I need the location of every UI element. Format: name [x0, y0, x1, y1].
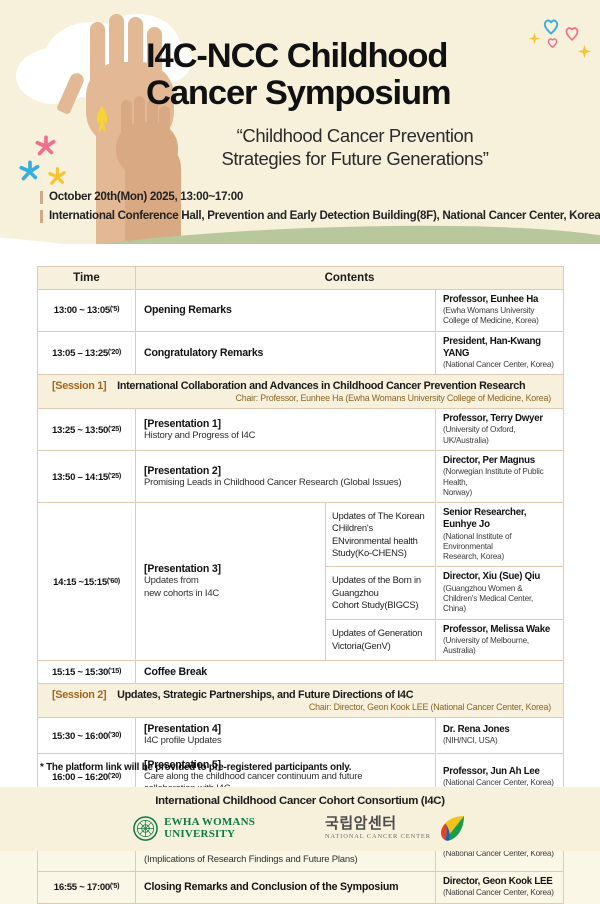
ewha-line-2: UNIVERSITY — [164, 828, 255, 840]
speaker-name: Professor, Eunhee Ha — [443, 294, 556, 306]
row-speaker: Director, Geon Kook LEE (National Cancer… — [436, 872, 564, 903]
session-title-line: [Session 2] Updates, Strategic Partnersh… — [52, 689, 553, 701]
time-duration: ('15) — [108, 666, 121, 675]
title-line-2: Cancer Symposium — [146, 75, 586, 112]
event-date-text: October 20th(Mon) 2025, 13:00~17:00 — [49, 190, 243, 203]
subtitle-line-1: “Childhood Cancer Prevention — [146, 124, 564, 148]
speaker-affiliation: (National Cancer Center, Korea) — [443, 888, 556, 898]
table-header-row: Time Contents — [38, 267, 564, 290]
row-title: Coffee Break — [144, 666, 555, 678]
title-block: I4C-NCC Childhood Cancer Symposium “Chil… — [146, 38, 586, 171]
time-text: 16:55 ~ 17:00 — [54, 882, 110, 893]
row-contents: [Presentation 2] Promising Leads in Chil… — [136, 451, 436, 503]
speaker-affiliation: (National Cancer Center, Korea) — [443, 360, 556, 370]
time-text: 13:05 – 13:25 — [52, 348, 108, 359]
row-description: I4C profile Updates — [144, 735, 427, 747]
footnote: * The platform link will be provided to … — [40, 762, 351, 773]
subtopic-text: Cohort Study(BIGCS) — [332, 599, 429, 612]
session-chair: Chair: Director, Geon Kook LEE (National… — [52, 702, 553, 712]
time-text: 13:00 ~ 13:05 — [54, 305, 110, 316]
hero-banner: I4C-NCC Childhood Cancer Symposium “Chil… — [0, 0, 600, 262]
speaker-affiliation: Children's Medical Center, China) — [443, 594, 556, 615]
row-speaker: Director, Per Magnus (Norwegian Institut… — [436, 451, 564, 503]
session-title: International Collaboration and Advances… — [117, 380, 525, 392]
ncc-english-text: NATIONAL CANCER CENTER — [325, 833, 431, 840]
flower-decoration — [33, 133, 59, 159]
row-title: Opening Remarks — [144, 304, 427, 316]
row-speaker: Dr. Rena Jones (NIH/NCI, USA) — [436, 718, 564, 753]
row-title: [Presentation 2] — [144, 465, 427, 477]
title-line-1: I4C-NCC Childhood — [146, 38, 586, 75]
row-description: (Implications of Research Findings and F… — [144, 854, 427, 866]
table-row: 13:00 ~ 13:05('5) Opening Remarks Profes… — [38, 290, 564, 332]
table-row: 13:05 – 13:25('20) Congratulatory Remark… — [38, 331, 564, 375]
footer-band: International Childhood Cancer Cohort Co… — [0, 787, 600, 851]
yellow-ribbon-icon — [93, 103, 111, 135]
speaker-affiliation: (Ewha Womans University — [443, 306, 556, 316]
adult-finger — [90, 22, 105, 82]
speaker-name: Dr. Rena Jones — [443, 724, 556, 736]
column-header-time: Time — [38, 267, 136, 290]
row-speaker: Professor, Eunhee Ha (Ewha Womans Univer… — [436, 290, 564, 332]
table-row: 16:55 ~ 17:00('5) Closing Remarks and Co… — [38, 872, 564, 903]
schedule-sheet: Time Contents 13:00 ~ 13:05('5) Opening … — [0, 244, 600, 787]
flower-decoration — [46, 165, 69, 188]
session-tag: [Session 1] — [52, 380, 106, 392]
session-1-banner: [Session 1] International Collaboration … — [38, 375, 564, 409]
ewha-emblem-icon — [133, 816, 158, 841]
speaker-name: Director, Geon Kook LEE — [443, 876, 556, 888]
time-text: 15:15 ~ 15:30 — [52, 667, 108, 678]
time-duration: ('30) — [108, 730, 121, 739]
row-description: History and Progress of I4C — [144, 430, 427, 442]
speaker-name: President, Han-Kwang YANG — [443, 336, 556, 360]
page-subtitle: “Childhood Cancer Prevention Strategies … — [146, 124, 586, 171]
subtitle-line-2: Strategies for Future Generations” — [146, 147, 564, 171]
speaker-affiliation: (National Institute of Environmental — [443, 532, 556, 553]
child-finger — [121, 100, 132, 136]
row-speaker: Professor, Terry Dwyer (University of Ox… — [436, 409, 564, 451]
child-finger — [134, 96, 145, 136]
row-title: Closing Remarks and Conclusion of the Sy… — [144, 881, 427, 893]
table-row: 14:15 ~15:15('60) [Presentation 3] Updat… — [38, 503, 564, 567]
subtopic-cell: Updates of Generation Victoria(GenV) — [326, 619, 436, 661]
row-time: 16:55 ~ 17:00('5) — [38, 872, 136, 903]
ncc-logo: 국립암센터 NATIONAL CANCER CENTER — [325, 814, 467, 842]
ewha-line-1: EWHA WOMANS — [164, 816, 255, 828]
speaker-name: Professor, Melissa Wake — [443, 624, 556, 636]
time-duration: ('25) — [108, 424, 121, 433]
row-title: [Presentation 1] — [144, 418, 427, 430]
time-text: 13:25 ~ 13:50 — [52, 425, 108, 436]
row-time: 15:30 ~ 16:00('30) — [38, 718, 136, 753]
session-2-banner: [Session 2] Updates, Strategic Partnersh… — [38, 684, 564, 718]
time-text: 14:15 ~15:15 — [53, 577, 107, 588]
time-text: 13:50 – 14:15 — [52, 472, 108, 483]
bullet-tick-icon — [40, 191, 43, 204]
row-time: 13:50 – 14:15('25) — [38, 451, 136, 503]
adult-finger — [109, 14, 124, 82]
subtopic-text: ENvironmental health Study(Ko-CHENS) — [332, 535, 429, 560]
subtopic-cell: Updates of The Korean CHildren's ENviron… — [326, 503, 436, 567]
row-contents: Closing Remarks and Conclusion of the Sy… — [136, 872, 436, 903]
time-duration: ('60) — [107, 576, 120, 585]
speaker-name: Director, Per Magnus — [443, 455, 556, 467]
row-contents: [Presentation 4] I4C profile Updates — [136, 718, 436, 753]
subtopic-cell: Updates of the Born in Guangzhou Cohort … — [326, 567, 436, 619]
row-time: 15:15 ~ 15:30('15) — [38, 661, 136, 684]
speaker-affiliation: (University of Oxford, UK/Australia) — [443, 425, 556, 446]
subtopic-text: Updates of The Korean CHildren's — [332, 510, 429, 535]
logo-row: EWHA WOMANS UNIVERSITY 국립암센터 NATIONAL CA… — [0, 814, 600, 842]
table-row: 15:30 ~ 16:00('30) [Presentation 4] I4C … — [38, 718, 564, 753]
time-duration: ('25) — [108, 471, 121, 480]
row-description: Updates from — [144, 575, 317, 587]
subtopic-text: Updates of the Born in Guangzhou — [332, 574, 429, 599]
ncc-korean-text: 국립암센터 — [325, 816, 431, 831]
ncc-leaf-icon — [437, 814, 467, 842]
row-contents: Congratulatory Remarks — [136, 331, 436, 375]
row-contents: [Presentation 3] Updates from new cohort… — [136, 503, 326, 661]
speaker-affiliation: Norway) — [443, 488, 556, 498]
session-header-row: [Session 1] International Collaboration … — [38, 375, 564, 409]
ncc-wordmark: 국립암센터 NATIONAL CANCER CENTER — [325, 816, 431, 840]
table-row: 13:25 ~ 13:50('25) [Presentation 1] Hist… — [38, 409, 564, 451]
column-header-contents: Contents — [136, 267, 564, 290]
session-header-row: [Session 2] Updates, Strategic Partnersh… — [38, 684, 564, 718]
time-duration: ('20) — [108, 347, 121, 356]
time-text: 16:00 – 16:20 — [52, 772, 108, 783]
row-contents: [Presentation 1] History and Progress of… — [136, 409, 436, 451]
bullet-tick-icon — [40, 210, 43, 223]
row-speaker: Professor, Melissa Wake (University of M… — [436, 619, 564, 661]
flower-decoration — [17, 158, 43, 184]
speaker-name: Professor, Terry Dwyer — [443, 413, 556, 425]
event-info: October 20th(Mon) 2025, 13:00~17:00 Inte… — [40, 190, 600, 228]
page-title: I4C-NCC Childhood Cancer Symposium — [146, 38, 586, 113]
row-time: 13:05 – 13:25('20) — [38, 331, 136, 375]
row-contents: Coffee Break — [136, 661, 564, 684]
session-chair: Chair: Professor, Eunhee Ha (Ewha Womans… — [52, 393, 553, 403]
speaker-affiliation: (Norwegian Institute of Public Health, — [443, 467, 556, 488]
row-contents: Opening Remarks — [136, 290, 436, 332]
row-speaker: Director, Xiu (Sue) Qiu (Guangzhou Women… — [436, 567, 564, 619]
speaker-affiliation: (Guangzhou Women & — [443, 584, 556, 594]
table-row: 15:15 ~ 15:30('15) Coffee Break — [38, 661, 564, 684]
event-date-line: October 20th(Mon) 2025, 13:00~17:00 — [40, 190, 600, 204]
speaker-name: Professor, Jun Ah Lee — [443, 766, 556, 778]
row-speaker: President, Han-Kwang YANG (National Canc… — [436, 331, 564, 375]
row-speaker: Senior Researcher, Eunhye Jo (National I… — [436, 503, 564, 567]
session-title: Updates, Strategic Partnerships, and Fut… — [117, 689, 413, 701]
event-venue-line: International Conference Hall, Preventio… — [40, 209, 600, 223]
time-duration: ('5) — [110, 881, 119, 890]
row-time: 13:00 ~ 13:05('5) — [38, 290, 136, 332]
speaker-name: Senior Researcher, Eunhye Jo — [443, 507, 556, 531]
table-row: 13:50 – 14:15('25) [Presentation 2] Prom… — [38, 451, 564, 503]
adult-finger — [128, 17, 143, 83]
speaker-name: Director, Xiu (Sue) Qiu — [443, 571, 556, 583]
row-description: new cohorts in I4C — [144, 588, 317, 600]
speaker-affiliation: (University of Melbourne, Australia) — [443, 636, 556, 657]
row-title: [Presentation 4] — [144, 723, 427, 735]
speaker-affiliation: (NIH/NCI, USA) — [443, 736, 556, 746]
speaker-affiliation: Research, Korea) — [443, 552, 556, 562]
row-title: Congratulatory Remarks — [144, 347, 427, 359]
heart-decoration — [541, 16, 561, 36]
time-text: 15:30 ~ 16:00 — [52, 731, 108, 742]
ewha-logo: EWHA WOMANS UNIVERSITY — [133, 816, 255, 841]
row-description: Promising Leads in Childhood Cancer Rese… — [144, 477, 427, 489]
event-venue-text: International Conference Hall, Preventio… — [49, 209, 600, 222]
speaker-affiliation: College of Medicine, Korea) — [443, 316, 556, 326]
row-title: [Presentation 3] — [144, 563, 317, 575]
row-time: 14:15 ~15:15('60) — [38, 503, 136, 661]
ewha-wordmark: EWHA WOMANS UNIVERSITY — [164, 816, 255, 841]
row-time: 13:25 ~ 13:50('25) — [38, 409, 136, 451]
organizer-line: International Childhood Cancer Cohort Co… — [0, 787, 600, 807]
session-title-line: [Session 1] International Collaboration … — [52, 380, 553, 392]
time-duration: ('5) — [110, 304, 119, 313]
subtopic-text: Updates of Generation Victoria(GenV) — [332, 627, 429, 652]
session-tag: [Session 2] — [52, 689, 106, 701]
